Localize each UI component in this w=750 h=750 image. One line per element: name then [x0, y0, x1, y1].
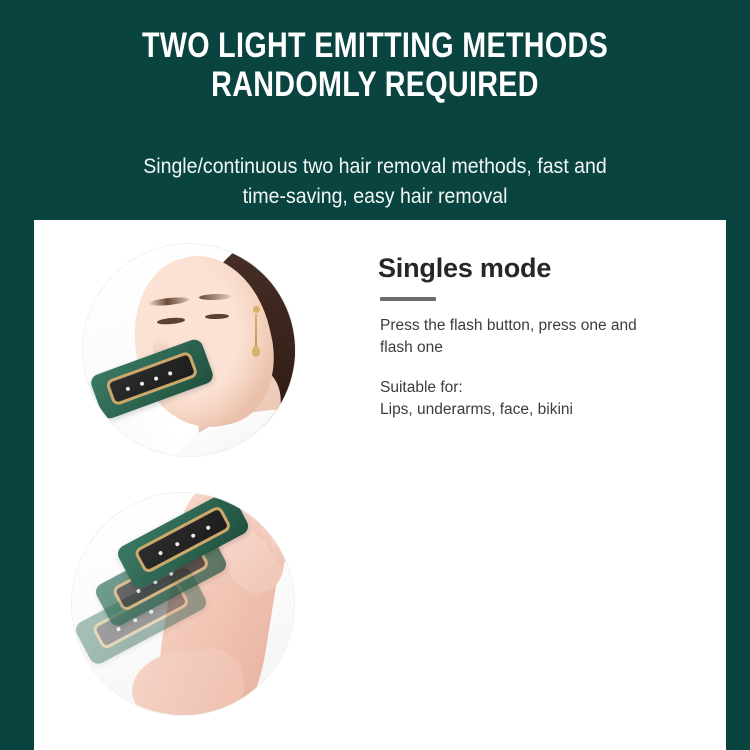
device-indicator-dot — [125, 386, 130, 391]
device-indicator-dot — [205, 525, 210, 530]
page-subtitle: Single/continuous two hair removal metho… — [73, 152, 678, 212]
photo-singles-mode — [83, 244, 295, 456]
product-feature-poster: TWO LIGHT EMITTING METHODS RANDOMLY REQU… — [0, 0, 750, 750]
earring-bead — [253, 306, 260, 313]
device-indicator-dot — [174, 541, 179, 546]
suitable-for-label: Suitable for: — [380, 377, 726, 399]
subtitle-line-1: Single/continuous two hair removal metho… — [73, 152, 678, 182]
suitable-for-value: Lips, underarms, face, bikini — [380, 399, 726, 421]
title-line-1: TWO LIGHT EMITTING METHODS — [68, 26, 683, 65]
device-indicator-dot — [167, 371, 172, 376]
page-title: TWO LIGHT EMITTING METHODS RANDOMLY REQU… — [68, 26, 683, 104]
mode-description: Press the flash button, press one and fl… — [380, 315, 650, 359]
poster-header: TWO LIGHT EMITTING METHODS RANDOMLY REQU… — [0, 0, 750, 220]
subtitle-line-2: time-saving, easy hair removal — [73, 182, 678, 212]
earring-drop — [255, 314, 257, 348]
device-indicator-dot — [153, 376, 158, 381]
device-indicator-dot — [116, 626, 121, 631]
mode-section-singles: Singles mode Press the flash button, pre… — [34, 230, 726, 480]
device-indicator-dot — [158, 550, 163, 555]
text-block-singles: Singles mode Press the flash button, pre… — [378, 252, 726, 421]
photo-continuous-mode — [72, 493, 294, 715]
mode-section-continuous: Continuous flash mode Press the flash bu… — [34, 485, 726, 740]
photo-continuous-inner — [72, 493, 294, 715]
photo-singles-inner — [83, 244, 295, 456]
mode-title: Singles mode — [378, 252, 726, 284]
title-line-2: RANDOMLY REQUIRED — [68, 65, 683, 104]
title-divider-rule — [380, 297, 436, 301]
device-indicator-dot — [136, 588, 141, 593]
content-card: Singles mode Press the flash button, pre… — [34, 220, 726, 750]
device-indicator-dot — [139, 381, 144, 386]
earring-tip — [252, 346, 260, 357]
device-indicator-dot — [191, 533, 196, 538]
